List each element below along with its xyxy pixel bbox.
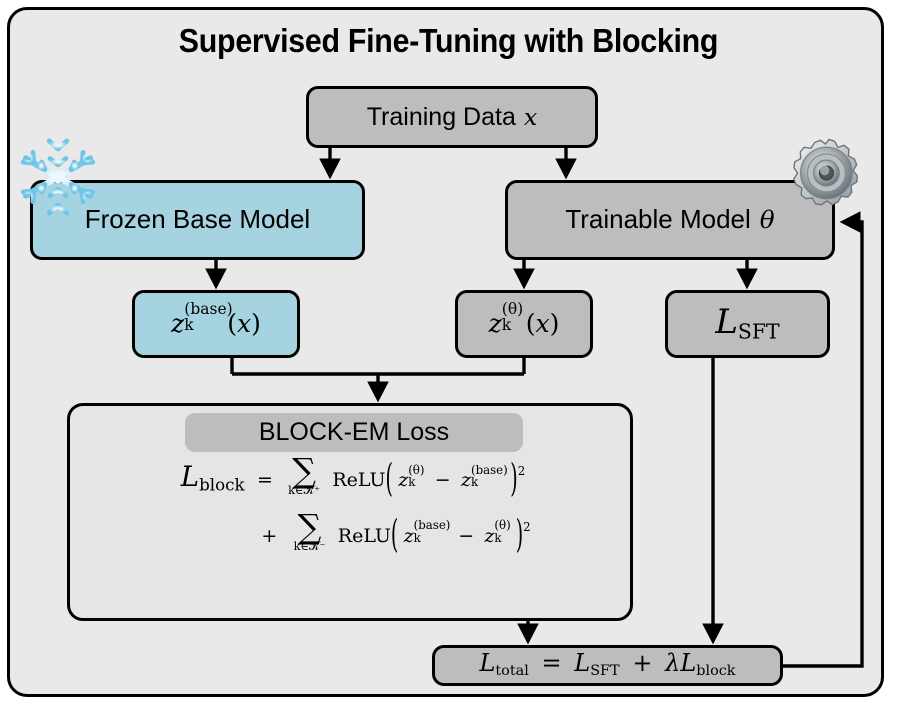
z-theta-superscript: (θ) <box>502 301 523 317</box>
block-loss-paren-open-1: ( <box>386 461 393 501</box>
node-z-theta-expression: zk(θ) (x) <box>489 311 560 337</box>
block-loss-term-b-2: zk(θ) <box>484 527 494 547</box>
sft-loss-subscript: SFT <box>738 320 780 344</box>
z-base-subscript: k <box>184 317 193 333</box>
block-em-loss-formula-line-1: Lblock = ∑ k∈𝒦⁺ ReLU( zk(θ) − zk(base) )… <box>70 458 636 498</box>
total-loss-lhs-symbol: L <box>479 649 495 677</box>
diagram-canvas: Supervised Fine-Tuning with Blocking <box>0 0 897 710</box>
block-loss-lhs-subscript: block <box>199 475 245 495</box>
total-loss-term1-symbol: L <box>574 649 590 677</box>
sft-loss-symbol: L <box>715 302 738 342</box>
node-frozen-base-model-label: Frozen Base Model <box>85 206 310 233</box>
block-em-loss-formula: Lblock = ∑ k∈𝒦⁺ ReLU( zk(θ) − zk(base) )… <box>70 458 636 553</box>
block-loss-paren-close-1: ) <box>510 461 517 501</box>
gear-icon <box>786 136 872 222</box>
node-sft-loss[interactable]: LSFT <box>665 290 830 358</box>
total-loss-lhs-subscript: total <box>495 663 528 679</box>
block-loss-term-a-1: zk(θ) <box>398 471 408 491</box>
block-loss-sum-1-limit: k∈𝒦⁺ <box>288 484 320 498</box>
z-theta-subscript: k <box>502 317 511 333</box>
total-loss-equals: = <box>541 649 561 677</box>
block-loss-lhs-symbol: L <box>181 461 199 493</box>
node-trainable-model-symbol: θ <box>760 207 775 233</box>
total-loss-lambda: λ <box>665 649 680 677</box>
block-loss-relu-2: ReLU <box>338 525 391 547</box>
block-loss-sum-1: ∑ k∈𝒦⁺ <box>288 458 320 498</box>
total-loss-term2-symbol: L <box>680 649 696 677</box>
block-loss-sum-2: ∑ k∈𝒦⁻ <box>294 514 326 554</box>
block-loss-sum-2-limit: k∈𝒦⁻ <box>294 540 326 554</box>
snowflake-icon <box>14 133 102 221</box>
block-loss-power-2: 2 <box>523 519 531 533</box>
node-sft-loss-expression: LSFT <box>715 305 779 343</box>
z-theta-argument: (x) <box>526 309 560 338</box>
node-total-loss[interactable]: Ltotal = LSFT + λLblock <box>432 645 783 686</box>
node-block-em-loss[interactable]: BLOCK-EM Loss Lblock = ∑ k∈𝒦⁺ ReLU( zk(θ… <box>67 403 633 621</box>
block-loss-term-b-1: zk(base) <box>461 471 471 491</box>
total-loss-term1-subscript: SFT <box>590 663 619 679</box>
block-loss-plus: + <box>261 525 277 547</box>
page-title: Supervised Fine-Tuning with Blocking <box>36 22 861 60</box>
block-loss-paren-close-2: ) <box>516 517 523 557</box>
block-loss-relu-1: ReLU <box>332 469 385 491</box>
block-em-loss-formula-line-2: + ∑ k∈𝒦⁻ ReLU( zk(base) − zk(θ) )2 <box>70 514 636 554</box>
block-loss-equals: = <box>257 469 273 491</box>
block-loss-minus-2: − <box>458 525 474 547</box>
node-z-base-expression: zk(base) (x) <box>171 311 261 337</box>
block-em-loss-badge: BLOCK-EM Loss <box>185 413 523 452</box>
node-training-data[interactable]: Training Data x <box>306 86 598 148</box>
total-loss-plus: + <box>632 649 652 677</box>
block-loss-power-1: 2 <box>518 464 526 478</box>
block-loss-paren-open-2: ( <box>391 517 398 557</box>
node-training-data-symbol: x <box>524 105 537 130</box>
node-z-base-logits[interactable]: zk(base) (x) <box>132 290 300 358</box>
total-loss-term2-subscript: block <box>696 663 735 679</box>
node-trainable-model-label: Trainable Model <box>565 206 750 233</box>
block-loss-minus-1: − <box>435 469 451 491</box>
block-loss-term-a-2: zk(base) <box>404 527 414 547</box>
block-em-loss-badge-label: BLOCK-EM Loss <box>259 419 449 445</box>
total-loss-expression: Ltotal = LSFT + λLblock <box>479 651 735 679</box>
z-base-superscript: (base) <box>184 301 232 317</box>
node-z-theta-logits[interactable]: zk(θ) (x) <box>455 290 593 358</box>
node-training-data-label: Training Data <box>367 104 516 130</box>
